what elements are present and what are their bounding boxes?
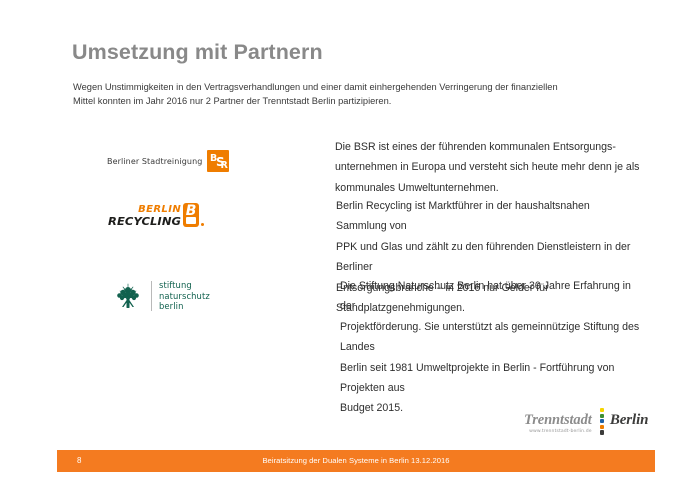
- berlin-recycling-badge-letter: B: [183, 204, 199, 218]
- berlin-recycling-logo: BERLIN RECYCLING B: [108, 203, 204, 227]
- slide-canvas: Umsetzung mit Partnern Wegen Unstimmigke…: [0, 0, 700, 495]
- partner-row-bsr: Berliner Stadtreinigung B S R Die BSR is…: [0, 130, 700, 196]
- bsr-letter-r: R: [220, 160, 227, 171]
- tree-icon: [112, 280, 144, 312]
- trenntstadt-url: www.trenntstadt-berlin.de: [529, 429, 592, 434]
- stiftung-naturschutz-wordmark: stiftung naturschutz berlin: [159, 280, 210, 312]
- description-line: Projektförderung. Sie unterstützt als ge…: [340, 317, 640, 358]
- bsr-badge-icon: B S R: [207, 150, 229, 172]
- intro-line-2: Mittel konnten im Jahr 2016 nur 2 Partne…: [73, 95, 633, 109]
- dot-dark: [600, 430, 604, 434]
- dot-green: [600, 414, 604, 418]
- berlin-recycling-dot-icon: [201, 223, 204, 226]
- intro-line-1: Wegen Unstimmigkeiten in den Vertragsver…: [73, 81, 633, 95]
- description-line: Berlin seit 1981 Umweltprojekte in Berli…: [340, 358, 640, 399]
- berlin-recycling-word-bottom: RECYCLING: [108, 216, 181, 227]
- trenntstadt-left-block: Trenntstadt www.trenntstadt-berlin.de: [524, 412, 596, 434]
- dot-blue: [600, 419, 604, 423]
- description-line: Die BSR ist eines der führenden kommunal…: [335, 137, 640, 157]
- berlin-recycling-word-top: BERLIN: [138, 205, 181, 215]
- partner-description-stiftung-naturschutz: Die Stiftung Naturschutz Berlin hat über…: [340, 276, 700, 419]
- trenntstadt-berlin-logo: Trenntstadt www.trenntstadt-berlin.de Be…: [524, 412, 648, 435]
- page-title: Umsetzung mit Partnern: [72, 40, 323, 65]
- partner-description-bsr: Die BSR ist eines der führenden kommunal…: [335, 130, 700, 198]
- dot-orange: [600, 425, 604, 429]
- trenntstadt-dots-icon: [596, 408, 608, 435]
- intro-paragraph: Wegen Unstimmigkeiten in den Vertragsver…: [73, 81, 633, 108]
- berlin-word: Berlin: [608, 412, 649, 428]
- berlin-recycling-wordmark: BERLIN RECYCLING: [108, 205, 181, 228]
- partner-row-stiftung-naturschutz: stiftung naturschutz berlin Die Stiftung…: [0, 276, 700, 371]
- partner-logo-cell: BERLIN RECYCLING B: [0, 196, 336, 227]
- partner-list: Berliner Stadtreinigung B S R Die BSR is…: [0, 130, 700, 371]
- dot-yellow: [600, 408, 604, 412]
- partner-row-berlin-recycling: BERLIN RECYCLING B Berlin Recycling ist …: [0, 196, 700, 276]
- logo-word-2: naturschutz: [159, 291, 210, 302]
- footer-title: Beiratsitzung der Dualen Systeme in Berl…: [57, 450, 655, 472]
- bsr-badge-letters: B S R: [207, 150, 229, 172]
- stiftung-naturschutz-berlin-logo: stiftung naturschutz berlin: [112, 280, 210, 312]
- description-line: Berlin Recycling ist Marktführer in der …: [336, 196, 640, 237]
- logo-word-1: stiftung: [159, 280, 210, 291]
- footer-bar: 8 Beiratsitzung der Dualen Systeme in Be…: [57, 450, 655, 472]
- trenntstadt-word: Trenntstadt: [524, 412, 592, 428]
- bsr-wordmark: Berliner Stadtreinigung: [107, 157, 202, 166]
- berlin-recycling-badge-icon: B: [183, 203, 199, 227]
- description-line: unternehmen in Europa und versteht sich …: [335, 157, 640, 177]
- logo-word-3: berlin: [159, 301, 210, 312]
- description-line: PPK und Glas und zählt zu den führenden …: [336, 237, 640, 278]
- logo-divider: [151, 281, 152, 311]
- bsr-logo: Berliner Stadtreinigung B S R: [107, 150, 229, 172]
- description-line: Die Stiftung Naturschutz Berlin hat über…: [340, 276, 640, 317]
- partner-logo-cell: Berliner Stadtreinigung B S R: [0, 130, 335, 172]
- partner-logo-cell: stiftung naturschutz berlin: [0, 276, 340, 312]
